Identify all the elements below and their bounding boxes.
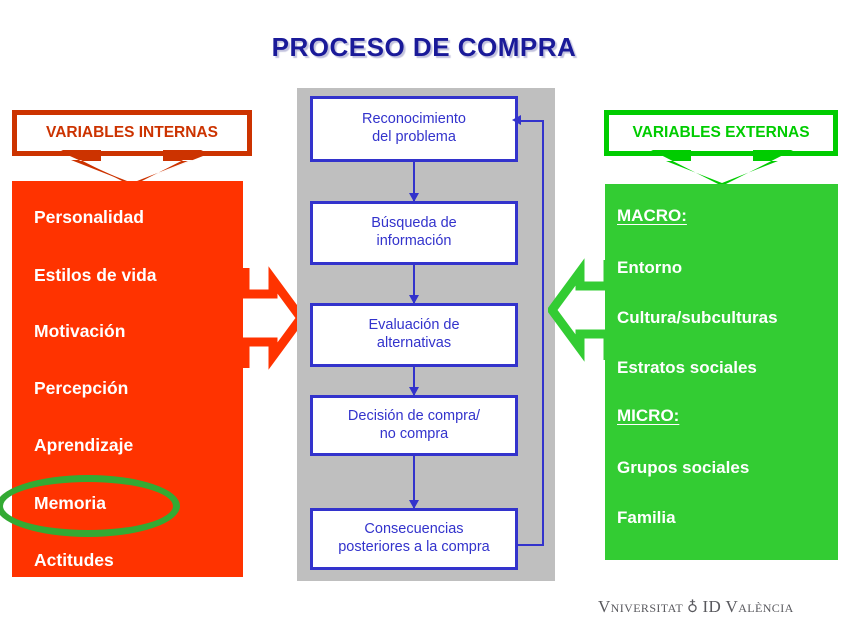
flow-step-4-line1: Decisión de compra/ [348,408,480,424]
external-to-flow-arrow-icon [548,258,610,362]
flow-step-1-line1: Reconocimiento [362,111,466,127]
external-item-cultura: Cultura/subculturas [617,308,778,328]
flow-step-2-line1: Búsqueda de [371,215,456,231]
memoria-highlight-ellipse-icon [0,475,180,537]
flow-step-3-line1: Evaluación de [368,317,459,333]
flow-step-5: Consecuencias posteriores a la compra [310,508,518,570]
diagram-canvas: PROCESO DE COMPRA VARIABLES INTERNAS Per… [0,0,848,636]
feedback-loop-top-segment [520,120,544,122]
university-logo: Vniversitat ♁ ID València [598,597,844,617]
internal-item-personalidad: Personalidad [34,207,144,228]
internal-item-percepcion: Percepción [34,378,128,399]
flow-connector-2-3 [413,265,415,303]
flow-step-1: Reconocimiento del problema [310,96,518,162]
flow-step-1-line2: del problema [372,129,456,145]
external-variables-down-arrow [646,150,798,186]
flow-step-2-line2: información [377,233,452,249]
flow-connector-1-2 [413,162,415,201]
flow-step-3: Evaluación de alternativas [310,303,518,367]
internal-item-estilos-de-vida: Estilos de vida [34,265,157,286]
internal-item-actitudes: Actitudes [34,550,114,571]
flow-step-4: Decisión de compra/ no compra [310,395,518,456]
flow-step-2: Búsqueda de información [310,201,518,265]
external-item-macro: MACRO: [617,206,687,226]
flow-step-3-line2: alternativas [377,335,451,351]
external-variables-panel: MACRO: Entorno Cultura/subculturas Estra… [605,184,838,560]
flow-step-5-line1: Consecuencias [364,521,463,537]
feedback-loop-bottom-segment [518,544,544,546]
internal-item-aprendizaje: Aprendizaje [34,435,133,456]
flow-connector-4-5 [413,456,415,508]
feedback-loop-arrowhead-icon [512,115,521,125]
external-item-entorno: Entorno [617,258,682,278]
internal-to-flow-arrow-icon [243,266,305,370]
external-item-familia: Familia [617,508,676,528]
external-item-grupos-sociales: Grupos sociales [617,458,749,478]
logo-emblem-icon: ♁ [687,598,698,617]
internal-item-motivacion: Motivación [34,321,125,342]
logo-text-part1: Vniversitat [598,597,683,617]
logo-text-part2: ID València [702,597,793,617]
external-item-micro: MICRO: [617,406,679,426]
page-title: PROCESO DE COMPRA [0,32,848,63]
flow-connector-3-4 [413,367,415,395]
external-item-estratos-sociales: Estratos sociales [617,358,757,378]
flow-step-5-line2: posteriores a la compra [338,539,490,555]
feedback-loop-right-segment [542,121,544,546]
flow-step-4-line2: no compra [380,426,449,442]
